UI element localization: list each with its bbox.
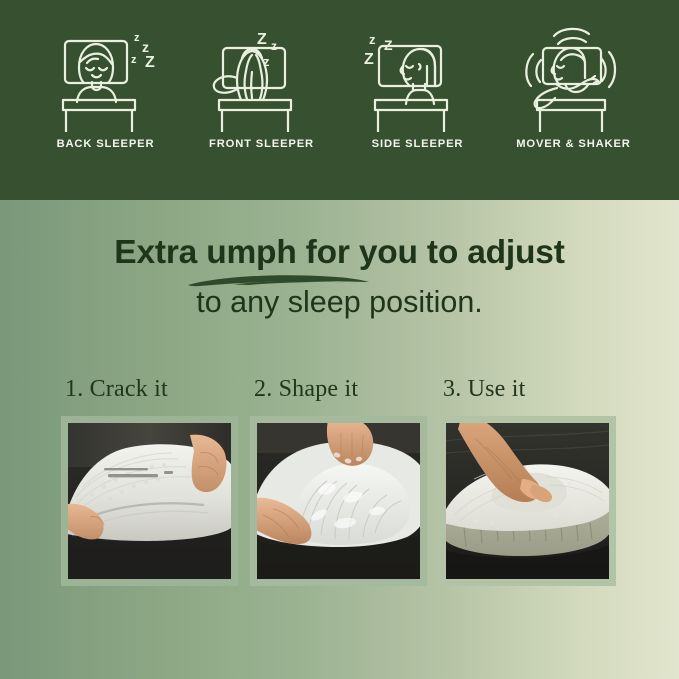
page-title: Extra umph for you to adjust <box>114 234 564 271</box>
shape-it-photo-icon <box>257 423 420 579</box>
sleeper-type-mover: MOVER & SHAKER <box>505 22 643 150</box>
sleeper-type-label: BACK SLEEPER <box>57 138 155 150</box>
svg-text:Z: Z <box>364 51 374 68</box>
step-item-3: 3. Use it <box>439 376 616 586</box>
step-photo-frame <box>250 416 427 586</box>
svg-text:Z: Z <box>257 31 267 48</box>
use-it-photo-icon <box>446 423 609 579</box>
step-label: 1. Crack it <box>61 376 238 403</box>
sleeper-type-label: FRONT SLEEPER <box>209 138 314 150</box>
svg-text:z: z <box>142 39 149 55</box>
headline-block: Extra umph for you to adjust to any slee… <box>0 235 679 319</box>
svg-text:z: z <box>134 32 140 44</box>
step-label: 3. Use it <box>439 376 616 403</box>
side-sleeper-icon: z Z Z <box>353 22 483 132</box>
step-photo <box>68 423 231 579</box>
sleeper-type-back: z z z Z BACK SLEEPER <box>37 22 175 150</box>
sleeper-type-label: MOVER & SHAKER <box>516 138 630 150</box>
step-label: 2. Shape it <box>250 376 427 403</box>
steps-row: 1. Crack it <box>61 376 621 586</box>
svg-text:Z: Z <box>384 37 393 53</box>
svg-text:z: z <box>369 32 376 47</box>
svg-text:Z: Z <box>145 54 155 71</box>
step-photo-frame <box>61 416 238 586</box>
sleeper-type-label: SIDE SLEEPER <box>372 138 464 150</box>
step-photo-frame <box>439 416 616 586</box>
crack-it-photo-icon <box>68 423 231 579</box>
step-item-2: 2. Shape it <box>250 376 427 586</box>
sleeper-types-row: z z z Z BACK SLEEPER <box>0 0 679 200</box>
svg-text:z: z <box>271 39 277 53</box>
step-photo <box>257 423 420 579</box>
sleeper-type-front: Z z z FRONT SLEEPER <box>193 22 331 150</box>
mover-shaker-icon <box>509 22 639 132</box>
zzz-text: z z z Z <box>131 32 155 71</box>
main-content-area: Extra umph for you to adjust to any slee… <box>0 200 679 679</box>
step-photo <box>446 423 609 579</box>
sleeper-type-side: z Z Z SIDE SLEEPER <box>349 22 487 150</box>
headline-line-1-wrap: Extra umph for you to adjust <box>114 235 564 272</box>
front-sleeper-icon: Z z z <box>197 22 327 132</box>
back-sleeper-icon: z z z Z <box>41 22 171 132</box>
sleeper-types-band: z z z Z BACK SLEEPER <box>0 0 679 200</box>
promo-graphic: z z z Z BACK SLEEPER <box>0 0 679 679</box>
svg-text:z: z <box>263 54 270 69</box>
step-item-1: 1. Crack it <box>61 376 238 586</box>
page-subtitle: to any sleep position. <box>0 286 679 320</box>
svg-text:z: z <box>131 54 137 66</box>
